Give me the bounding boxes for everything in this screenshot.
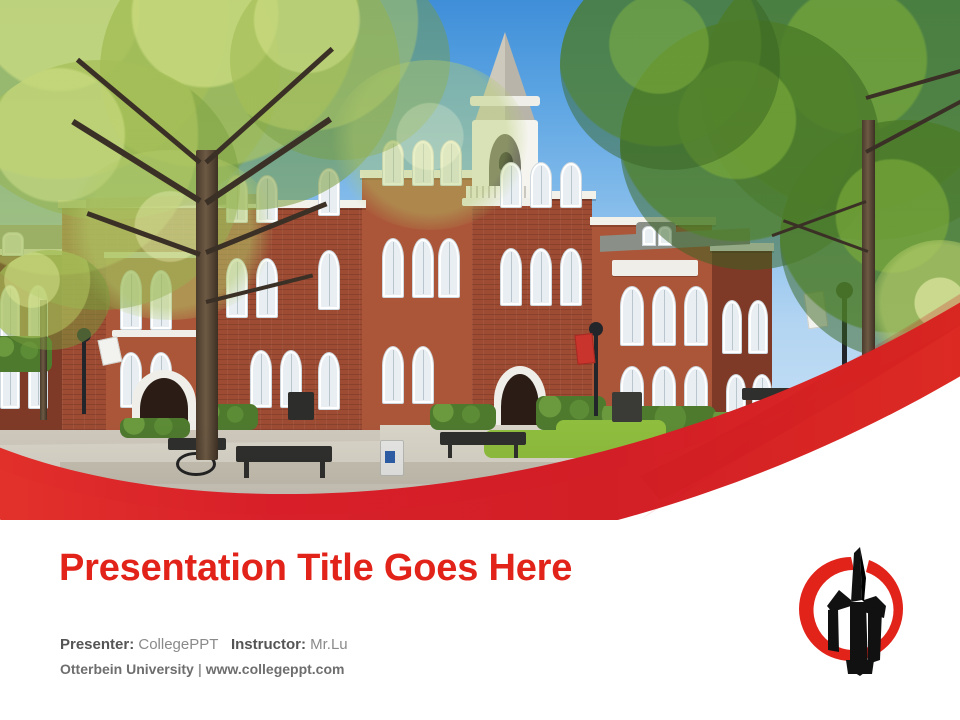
page-title: Presentation Title Goes Here	[59, 549, 572, 587]
instructor-label: Instructor:	[231, 636, 306, 653]
footer-line: Otterbein University|www.collegeppt.com	[60, 661, 344, 677]
arc-spacer	[940, 60, 960, 270]
organization-name: Otterbein University	[60, 661, 194, 677]
website-url[interactable]: www.collegeppt.com	[206, 661, 345, 677]
red-arc-banner	[0, 0, 960, 520]
otterbein-university-logo	[794, 540, 924, 690]
slide-canvas: Presentation Title Goes Here Presenter: …	[0, 0, 960, 720]
footer-separator: |	[194, 661, 206, 677]
presenter-value: CollegePPT	[138, 636, 218, 653]
instructor-value: Mr.Lu	[310, 636, 348, 653]
byline: Presenter: CollegePPT Instructor: Mr.Lu	[60, 636, 348, 653]
presenter-label: Presenter:	[60, 636, 134, 653]
